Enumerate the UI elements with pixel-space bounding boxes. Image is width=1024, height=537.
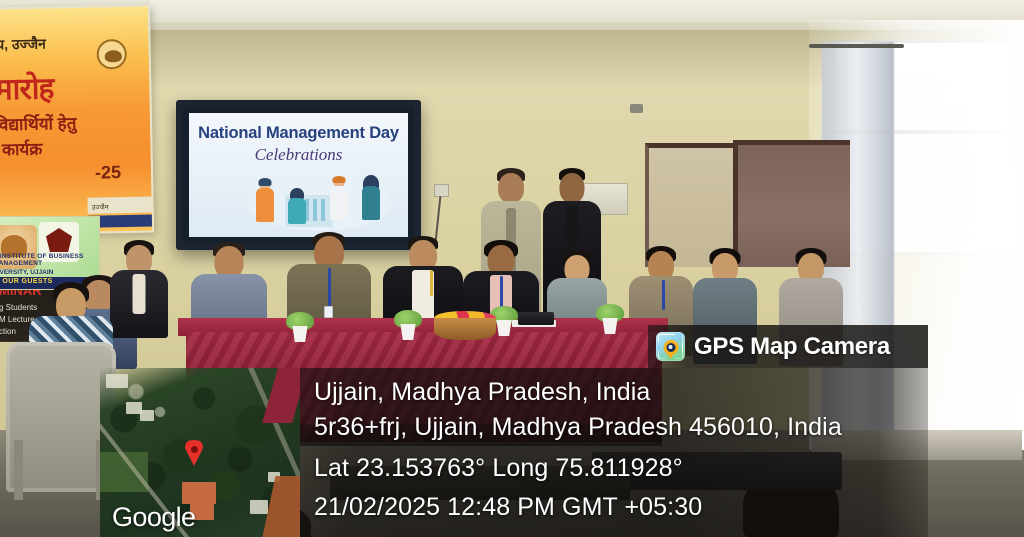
gps-locality: Ujjain, Madhya Pradesh, India — [314, 375, 914, 410]
gps-map-camera-logo-icon — [656, 332, 685, 361]
map-building-1 — [106, 374, 128, 388]
projector-screen: National Management Day Celebrations — [176, 100, 421, 250]
poster-red-g: ction — [0, 327, 16, 336]
ceiling-upper-band — [150, 0, 1024, 22]
lanyard-1 — [328, 268, 331, 306]
gps-coordinates: Lat 23.153763° Long 75.811928° — [314, 451, 914, 486]
poster-institute-line-2: NIVERSITY, UJJAIN — [0, 269, 53, 276]
table-diary — [518, 312, 554, 325]
id-badge-1 — [324, 306, 333, 318]
map-provider-watermark: Google — [112, 502, 195, 533]
gps-camera-photo: National Management Day Celebrations — [0, 0, 1024, 537]
curtain-rod — [809, 44, 904, 48]
camera-lens-icon — [663, 340, 678, 355]
gps-info-lines: Ujjain, Madhya Pradesh, India 5r36+frj, … — [314, 372, 914, 525]
banner-line-4: णा कार्यक्र — [0, 135, 137, 161]
map-building-4 — [250, 500, 268, 514]
gps-timestamp: 21/02/2025 12:48 PM GMT +05:30 — [314, 490, 914, 525]
slide-subtitle: Celebrations — [189, 145, 408, 165]
gps-app-title: GPS Map Camera — [694, 333, 890, 361]
map-building-3 — [140, 410, 154, 421]
slide-figure-4 — [359, 177, 383, 233]
slide-surface: National Management Day Celebrations — [189, 113, 408, 237]
chair-leg-1 — [14, 440, 23, 500]
flower-bowl — [434, 318, 496, 340]
lanyard-4 — [662, 280, 665, 310]
banner-line-3: त विद्यार्थियों हेतु — [0, 110, 136, 136]
poster-institute-line-1: U INSTITUTE OF BUSINESS MANAGEMENT — [0, 253, 99, 267]
gps-address: 5r36+frj, Ujjain, Madhya Pradesh 456010,… — [314, 410, 914, 445]
slide-title: National Management Day — [189, 124, 408, 143]
wall-socket — [434, 184, 449, 197]
slide-illustration — [223, 173, 374, 233]
map-roof-1 — [182, 482, 216, 504]
gps-watermark-header: GPS Map Camera — [648, 325, 928, 368]
banner-line-1: लय, उज्जैन — [0, 33, 143, 55]
ceiling-fixture — [630, 104, 643, 113]
slide-figure-3 — [327, 177, 351, 233]
banner-line-2: समारोह — [0, 65, 132, 109]
hindi-banner: लय, उज्जैन समारोह त विद्यार्थियों हेतु ण… — [0, 4, 154, 235]
person-seated-2 — [108, 240, 170, 330]
slide-figure-1 — [253, 179, 277, 233]
slide-figure-2 — [285, 189, 309, 233]
lanyard-2 — [430, 270, 433, 296]
banner-footer-text: उज्जैन — [92, 203, 109, 212]
map-thumbnail[interactable]: Google — [100, 368, 300, 537]
banner-year: -25 — [95, 162, 121, 183]
